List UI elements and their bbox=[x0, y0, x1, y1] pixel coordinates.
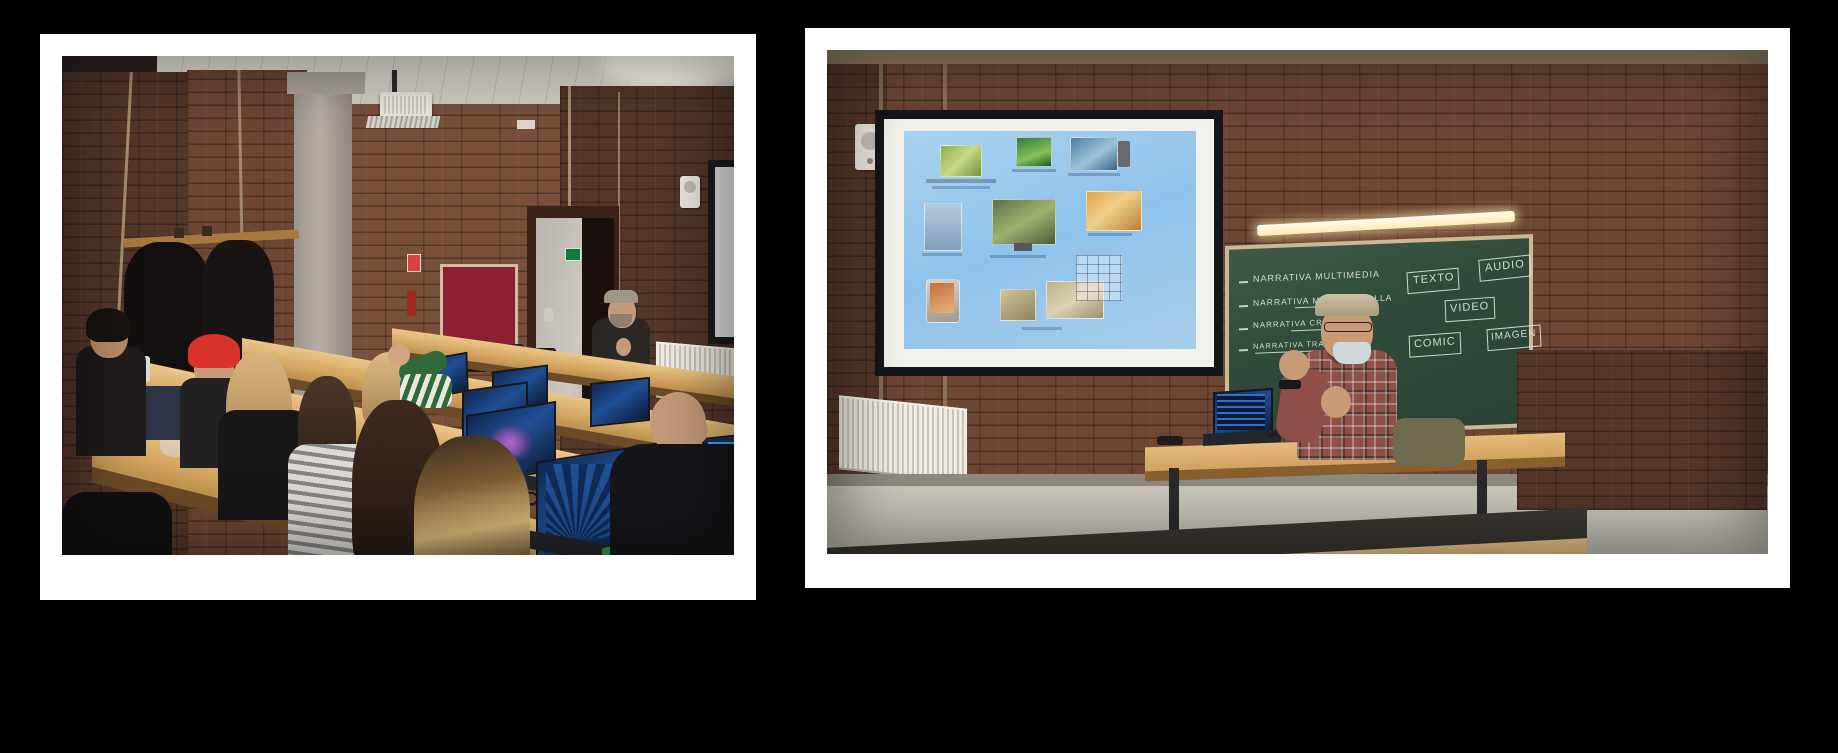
speaker-led bbox=[867, 158, 873, 164]
right-photo-frame: NARRATIVA MULTIMEDIA NARRATIVA MULTIPANT… bbox=[805, 28, 1790, 588]
slide-caption bbox=[1022, 327, 1062, 330]
slide-thumbnail bbox=[1000, 289, 1036, 321]
slide-caption bbox=[932, 186, 990, 189]
presentation-slide bbox=[904, 131, 1196, 349]
wall-brick-lower-right bbox=[1517, 350, 1767, 510]
student-hand bbox=[684, 418, 708, 444]
instructor-hand bbox=[1279, 350, 1309, 380]
pillar-cap bbox=[287, 72, 365, 94]
radiator bbox=[839, 395, 967, 482]
slide-thumbnail-phone-screen bbox=[930, 283, 954, 313]
slide-thumbnail bbox=[992, 199, 1056, 245]
slide-thumbnail bbox=[1016, 137, 1052, 167]
coat-hook-icon bbox=[202, 226, 212, 236]
instructor-face-mask bbox=[1333, 342, 1371, 364]
projection-screen bbox=[708, 160, 734, 344]
instructor-hand bbox=[616, 338, 631, 356]
instructor-watch bbox=[1279, 380, 1301, 389]
slide-thumbnail-device bbox=[1118, 141, 1130, 167]
slide-thumbnail bbox=[1086, 191, 1142, 231]
student-hair bbox=[86, 308, 130, 342]
laptop-screen-content bbox=[1217, 394, 1265, 430]
student-body bbox=[76, 346, 146, 456]
instructor-cap-icon bbox=[1315, 294, 1379, 316]
student-jacket-foreground bbox=[62, 492, 172, 555]
slide-thumbnail-monitor-stand bbox=[1014, 243, 1032, 251]
instructor-trousers bbox=[1393, 418, 1465, 466]
coat-hook-icon bbox=[174, 228, 184, 238]
slide-thumbnail-grid bbox=[1076, 255, 1122, 301]
left-photo-frame bbox=[40, 34, 756, 600]
student-hand bbox=[388, 344, 410, 366]
projector-vent bbox=[384, 96, 428, 114]
projection-screen bbox=[875, 110, 1223, 376]
laptop-screen bbox=[590, 377, 650, 427]
instructor-hand bbox=[1321, 386, 1351, 418]
ceiling-band bbox=[827, 50, 1768, 64]
chalk-bullet-dash bbox=[1239, 349, 1248, 351]
remote-control bbox=[1157, 436, 1183, 445]
chalk-bullet-dash bbox=[1239, 305, 1248, 307]
slide-caption bbox=[922, 253, 962, 256]
photo-collage-canvas: NARRATIVA MULTIMEDIA NARRATIVA MULTIPANT… bbox=[0, 0, 1838, 753]
slide-thumbnail bbox=[924, 203, 962, 251]
red-beanie-hat bbox=[188, 334, 240, 368]
slide-caption bbox=[1088, 233, 1132, 236]
right-photo: NARRATIVA MULTIMEDIA NARRATIVA MULTIPANT… bbox=[827, 50, 1768, 554]
exit-sign-icon bbox=[565, 248, 581, 261]
fire-extinguisher-icon bbox=[407, 290, 416, 316]
student-body bbox=[610, 444, 734, 555]
door-handle-icon bbox=[544, 308, 553, 322]
instructor-glasses-icon bbox=[1324, 322, 1372, 332]
speaker-cone bbox=[684, 181, 696, 193]
chalk-line-1: NARRATIVA MULTIMEDIA bbox=[1253, 269, 1380, 284]
slide-caption bbox=[926, 179, 996, 183]
slide-caption bbox=[1012, 169, 1056, 172]
slide-thumbnail bbox=[940, 145, 982, 177]
slide-caption bbox=[1068, 173, 1120, 176]
ceiling-sensor bbox=[517, 120, 535, 129]
slide-caption bbox=[990, 255, 1046, 258]
chalk-bullet-dash bbox=[1239, 281, 1248, 283]
fire-sign-icon bbox=[407, 254, 421, 272]
student-hair-highlighted bbox=[414, 436, 530, 555]
instructor-cap-icon bbox=[604, 290, 638, 303]
ceiling-mount-plate bbox=[366, 116, 441, 128]
chalk-bullet-dash bbox=[1239, 328, 1248, 330]
left-photo bbox=[62, 56, 734, 555]
slide-thumbnail bbox=[1070, 137, 1118, 171]
